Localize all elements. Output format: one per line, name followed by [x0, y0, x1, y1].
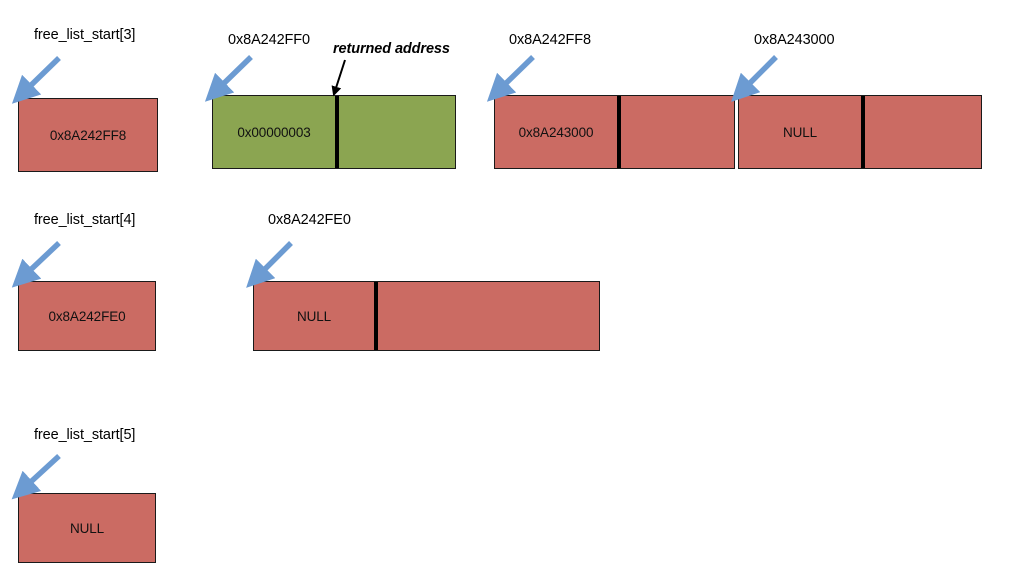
head-box-value: 0x8A242FE0	[19, 282, 155, 350]
head-box-free-list-start-3: 0x8A242FF8	[18, 98, 158, 172]
block-cell-next-pointer: NULL	[739, 96, 861, 168]
block-cell-header: 0x00000003	[213, 96, 335, 168]
pointer-label-free-list-start-4: free_list_start[4]	[34, 212, 135, 229]
address-arrow-0x8A242FF0	[216, 57, 251, 91]
head-box-value: NULL	[19, 494, 155, 562]
annotation-arrow-returned-address	[335, 60, 345, 91]
block-cell-next-pointer: NULL	[254, 282, 374, 350]
address-label-0x8A243000: 0x8A243000	[754, 32, 834, 49]
address-label-0x8A242FE0: 0x8A242FE0	[268, 212, 351, 229]
block-cell-payload	[374, 282, 599, 350]
head-box-free-list-start-5: NULL	[18, 493, 156, 563]
address-arrow-0x8A242FF8	[498, 57, 533, 91]
memory-block-free-0x8A243000: NULL	[738, 95, 982, 169]
annotation-returned-address: returned address	[333, 41, 450, 58]
memory-block-free-0x8A242FE0: NULL	[253, 281, 600, 351]
block-cell-payload	[335, 96, 455, 168]
pointer-label-free-list-start-5: free_list_start[5]	[34, 427, 135, 444]
address-arrow-0x8A242FE0	[257, 243, 291, 277]
diagram-canvas: free_list_start[3] 0x8A242FF8 0x8A242FF0…	[0, 0, 1024, 585]
head-box-free-list-start-4: 0x8A242FE0	[18, 281, 156, 351]
pointer-label-free-list-start-3: free_list_start[3]	[34, 27, 135, 44]
pointer-arrow-free-list-start-4	[23, 243, 59, 277]
block-cell-payload	[861, 96, 981, 168]
block-cell-payload	[617, 96, 734, 168]
address-label-0x8A242FF8: 0x8A242FF8	[509, 32, 591, 49]
address-arrow-0x8A243000	[742, 57, 776, 91]
memory-block-allocated-0x8A242FF0: 0x00000003	[212, 95, 456, 169]
pointer-arrow-free-list-start-3	[23, 58, 59, 93]
block-cell-next-pointer: 0x8A243000	[495, 96, 617, 168]
memory-block-free-0x8A242FF8: 0x8A243000	[494, 95, 735, 169]
head-box-value: 0x8A242FF8	[19, 99, 157, 171]
pointer-arrow-free-list-start-5	[23, 456, 59, 489]
address-label-0x8A242FF0: 0x8A242FF0	[228, 32, 310, 49]
